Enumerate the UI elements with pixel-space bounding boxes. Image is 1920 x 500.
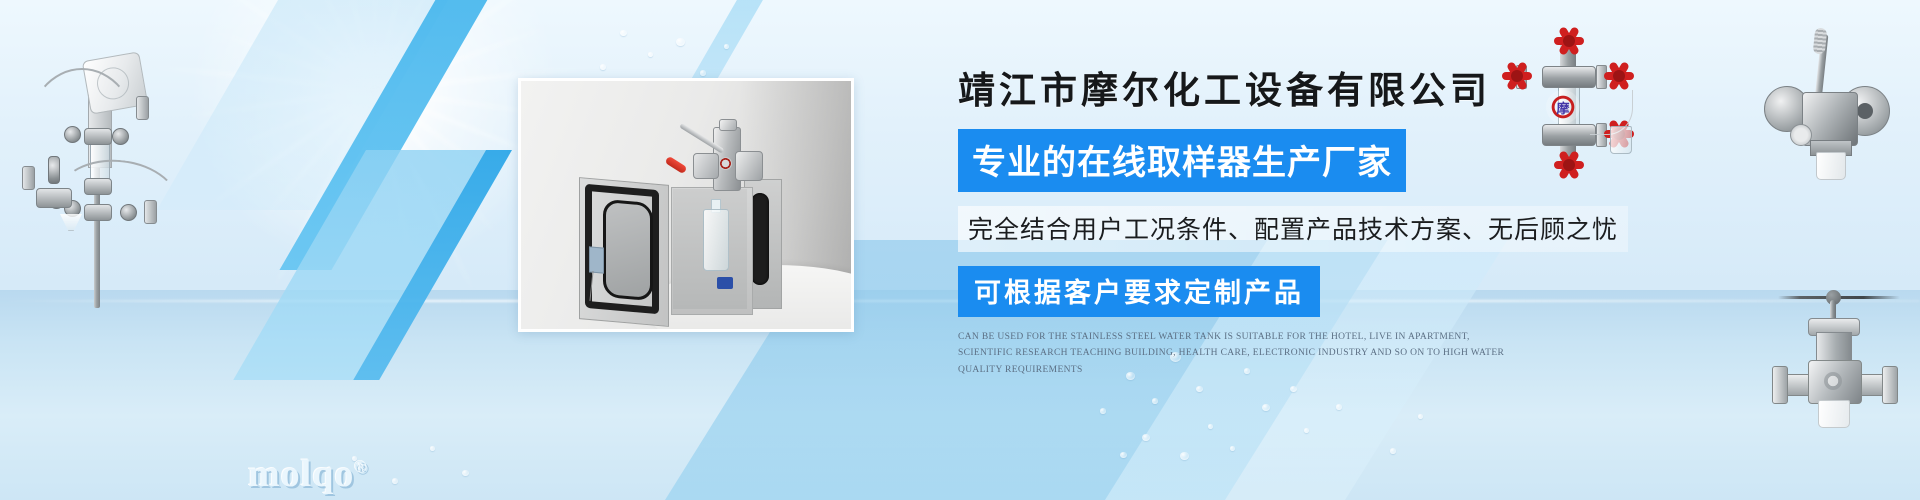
water-droplet bbox=[648, 52, 653, 57]
water-droplet bbox=[600, 64, 606, 70]
secondary-tag: 可根据客户要求定制产品 bbox=[958, 266, 1320, 317]
water-droplet bbox=[1100, 408, 1106, 414]
brand-logo-text: molqo bbox=[248, 453, 354, 495]
water-droplet bbox=[1152, 398, 1158, 404]
sampling-cabinet-photo bbox=[518, 78, 854, 332]
flanged-lever-valve-illustration bbox=[1762, 28, 1902, 198]
registered-mark-icon: ® bbox=[354, 457, 368, 476]
english-description: CAN BE USED FOR THE STAINLESS STEEL WATE… bbox=[958, 329, 1513, 379]
headline-tag: 专业的在线取样器生产厂家 bbox=[958, 129, 1406, 192]
brand-logo: molqo® bbox=[248, 452, 368, 496]
water-droplet bbox=[1230, 446, 1235, 451]
water-droplet bbox=[1336, 404, 1342, 410]
subline-text: 完全结合用户工况条件、配置产品技术方案、无后顾之忧 bbox=[958, 206, 1628, 252]
water-droplet bbox=[724, 44, 729, 49]
pole-mounted-sampler-illustration bbox=[8, 28, 188, 308]
water-droplet bbox=[1418, 414, 1423, 419]
water-droplet bbox=[700, 70, 706, 76]
gate-valve-illustration bbox=[1770, 282, 1906, 432]
water-droplet bbox=[430, 446, 435, 451]
banner-copy-block: 靖江市摩尔化工设备有限公司 专业的在线取样器生产厂家 完全结合用户工况条件、配置… bbox=[958, 72, 1658, 379]
company-name: 靖江市摩尔化工设备有限公司 bbox=[958, 72, 1658, 113]
water-droplet bbox=[1304, 428, 1309, 433]
water-droplet bbox=[392, 478, 398, 484]
promo-banner: 摩 靖江市摩尔化工设备有限公司 专业的在线取样器生产厂家 完全结合用户工况条件、… bbox=[0, 0, 1920, 500]
water-droplet bbox=[1208, 424, 1213, 429]
water-droplet bbox=[1390, 448, 1396, 454]
